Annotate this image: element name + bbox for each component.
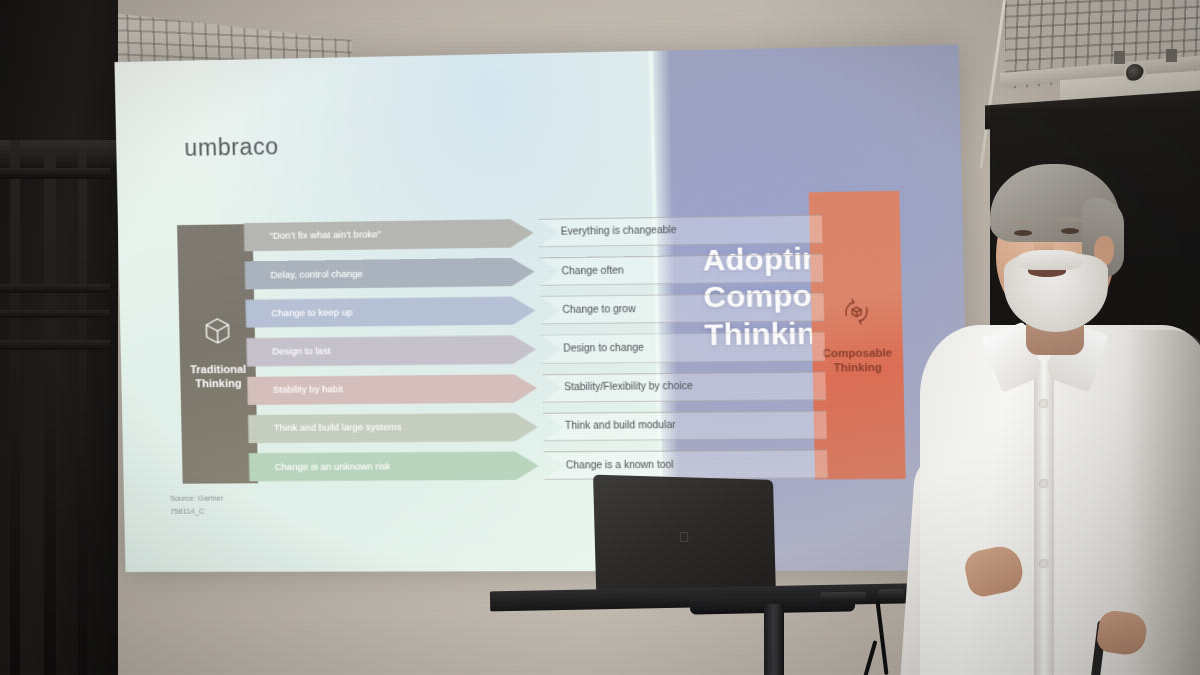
comparison-row: Design to last Design to change — [246, 329, 825, 374]
frame-bar — [10, 140, 20, 675]
row-left-label: Delay, control change — [245, 257, 535, 289]
dongle — [820, 592, 866, 603]
slide-source-note: Source: Gartner 758114_C — [170, 493, 224, 519]
comparison-rows: “Don’t fix what ain’t broke” Everything … — [244, 211, 828, 489]
composable-thinking-label: Composable Thinking — [823, 346, 893, 376]
projection-screen: umbraco Adopting Composable Thinking — [114, 44, 970, 571]
row-right-label: Stability/Flexibility by choice — [526, 371, 826, 402]
row-right-label: Change is a known tool — [528, 450, 828, 481]
row-left-label: Change to keep up — [245, 296, 535, 328]
podium-stem — [764, 604, 784, 675]
row-right-label: Design to change — [525, 332, 825, 364]
fixture-clip — [1114, 51, 1125, 64]
presenter-eye — [1061, 228, 1079, 234]
row-left-label: Design to last — [246, 335, 536, 366]
screenshot-scene: umbraco Adopting Composable Thinking — [0, 0, 1200, 675]
row-right-label: Change to grow — [525, 293, 825, 325]
row-right-label: Think and build modular — [527, 410, 827, 441]
row-right-label: Everything is changeable — [523, 214, 823, 247]
shirt-button — [1040, 400, 1047, 407]
row-left-label: Think and build large systems — [248, 413, 538, 444]
shirt-placket — [1034, 360, 1054, 675]
presenter-mustache — [1018, 250, 1082, 270]
comparison-row: Stability by habit Stability/Flexibility… — [247, 368, 826, 412]
frame-bar — [0, 310, 110, 318]
shirt-button — [1040, 560, 1047, 567]
dongle — [878, 589, 904, 601]
macbook-laptop:  — [593, 475, 776, 603]
traditional-thinking-label: Traditional Thinking — [190, 363, 247, 392]
comparison-row: Think and build large systems Think and … — [248, 407, 827, 450]
presenter — [930, 150, 1200, 675]
frame-bar — [0, 168, 110, 179]
frame-bar — [0, 284, 110, 293]
frame-bar — [78, 150, 87, 675]
comparison-row: Change to keep up Change to grow — [245, 290, 824, 335]
ceiling-light-fixture-icon — [1124, 62, 1146, 84]
presentation-slide: umbraco Adopting Composable Thinking — [114, 44, 970, 571]
frame-bar — [44, 155, 56, 675]
row-left-label: Change is an unknown risk — [249, 451, 539, 481]
shirt-button — [1040, 480, 1047, 487]
source-line-1: Source: Gartner — [170, 493, 224, 506]
recycle-cube-icon — [839, 295, 874, 333]
comparison-diagram: Traditional Thinking — [114, 44, 970, 571]
frame-bar — [0, 340, 110, 350]
row-left-label: Stability by habit — [247, 374, 537, 405]
row-left-label: “Don’t fix what ain’t broke” — [244, 219, 534, 252]
cube-icon — [204, 316, 231, 349]
presenter-eye — [1014, 230, 1032, 236]
apple-logo:  — [679, 530, 691, 544]
fixture-clip — [1166, 49, 1177, 62]
row-right-label: Change often — [524, 254, 824, 287]
source-line-2: 758114_C — [170, 506, 224, 519]
